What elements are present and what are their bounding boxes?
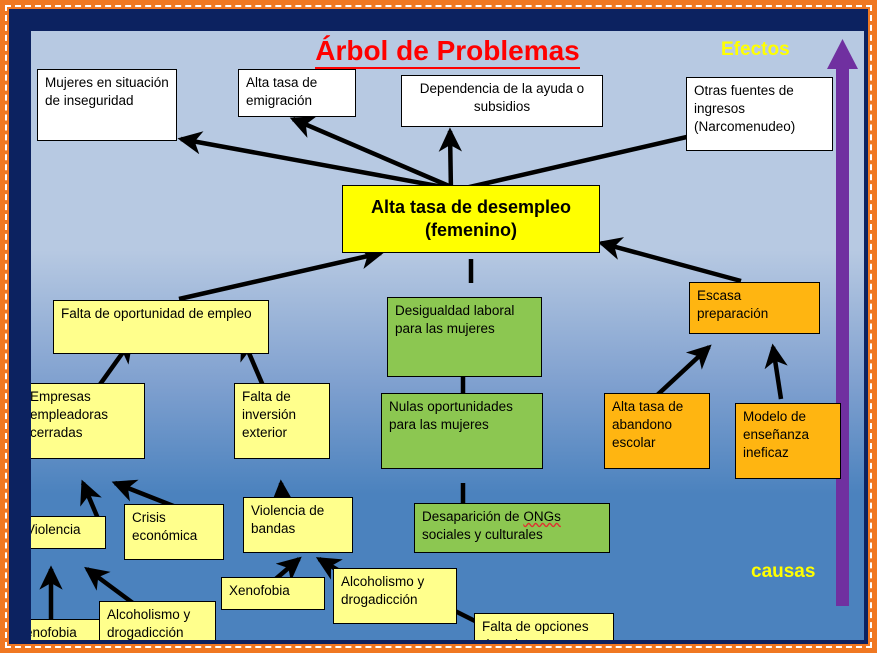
- node-text: Alcoholismo y drogadicción: [107, 607, 190, 640]
- cause-node-desigualdad-laboral[interactable]: Desigualdad laboral para las mujeres: [387, 297, 542, 377]
- node-text: Alta tasa de emigración: [246, 75, 317, 108]
- cause-node-escasa-preparacion[interactable]: Escasa preparación: [689, 282, 820, 334]
- cause-node-crisis-economica[interactable]: Crisis económica: [124, 504, 224, 560]
- inner-navy-frame: Árbol de Problemas Efectos causas Mujere…: [9, 9, 868, 644]
- node-text: Xenofobia: [31, 625, 77, 640]
- cause-node-violencia-bandas[interactable]: Violencia de bandas: [243, 497, 353, 553]
- ongs-text-prefix: Desaparición de: [422, 509, 523, 524]
- node-text: Escasa preparación: [697, 288, 768, 321]
- arrow-core-to-dependencia: [450, 131, 451, 193]
- cause-node-falta-inversion-exterior[interactable]: Falta de inversión exterior: [234, 383, 330, 459]
- cause-node-nulas-oportunidades[interactable]: Nulas oportunidades para las mujeres: [381, 393, 543, 469]
- node-text: Mujeres en situación de inseguridad: [45, 75, 169, 108]
- node-text: Falta de inversión exterior: [242, 389, 296, 440]
- node-text: Modelo de enseñanza ineficaz: [743, 409, 809, 460]
- node-text: Violencia de bandas: [251, 503, 324, 536]
- effect-node-otras-fuentes-ingresos[interactable]: Otras fuentes de ingresos (Narcomenudeo): [686, 77, 833, 151]
- cause-node-alcoholismo-2[interactable]: Alcoholismo y drogadicción: [333, 568, 457, 624]
- node-text: Falta de oportunidad de empleo: [61, 306, 252, 321]
- node-text: Falta de opciones de ocio: [482, 619, 589, 640]
- cause-node-alcoholismo-1[interactable]: Alcoholismo y drogadicción: [99, 601, 216, 640]
- node-text: Otras fuentes de ingresos (Narcomenudeo): [694, 83, 795, 134]
- core-problem-node[interactable]: Alta tasa de desempleo (femenino): [342, 185, 600, 253]
- cause-node-violencia[interactable]: Violencia: [31, 516, 106, 549]
- page-title-text: Árbol de Problemas: [315, 35, 580, 69]
- cause-node-xenofobia-2[interactable]: Xenofobia: [221, 577, 325, 610]
- arrow-modelo-to-escasa: [773, 347, 781, 399]
- node-text: Dependencia de la ayuda o subsidios: [420, 81, 584, 114]
- arrow-escasa-to-core: [601, 243, 741, 281]
- node-text: Nulas oportunidades para las mujeres: [389, 399, 513, 432]
- slide-frame: Árbol de Problemas Efectos causas Mujere…: [0, 0, 877, 653]
- core-problem-line2: (femenino): [371, 219, 571, 242]
- node-text: Desaparición de ONGs sociales y cultural…: [422, 509, 561, 542]
- ongs-text-suffix: sociales y culturales: [422, 527, 543, 542]
- arrow-abandono-to-escasa: [653, 347, 709, 399]
- node-text: Crisis económica: [132, 510, 197, 543]
- effect-node-dependencia-ayuda[interactable]: Dependencia de la ayuda o subsidios: [401, 75, 603, 127]
- cause-node-desaparicion-ongs[interactable]: Desaparición de ONGs sociales y cultural…: [414, 503, 610, 553]
- effect-node-alta-tasa-emigracion[interactable]: Alta tasa de emigración: [238, 69, 356, 117]
- arrow-core-to-narcomenudeo: [461, 130, 717, 189]
- cause-node-falta-oportunidad-empleo[interactable]: Falta de oportunidad de empleo: [53, 300, 269, 354]
- node-text: Desigualdad laboral para las mujeres: [395, 303, 514, 336]
- cause-node-xenofobia-1[interactable]: Xenofobia: [31, 619, 104, 640]
- node-text: Xenofobia: [229, 583, 290, 598]
- effects-axis-label: Efectos: [721, 39, 790, 61]
- arrow-falta-oportunidad-to-core: [179, 253, 381, 299]
- core-problem-line1: Alta tasa de desempleo: [371, 196, 571, 219]
- arrow-core-to-mujeres: [181, 139, 443, 187]
- causes-axis-label: causas: [751, 561, 815, 583]
- effect-node-mujeres-inseguridad[interactable]: Mujeres en situación de inseguridad: [37, 69, 177, 141]
- node-text: Violencia: [31, 522, 81, 537]
- cause-node-modelo-ensenanza[interactable]: Modelo de enseñanza ineficaz: [735, 403, 841, 479]
- cause-node-falta-opciones-ocio[interactable]: Falta de opciones de ocio: [474, 613, 614, 640]
- cause-node-empresas-cerradas[interactable]: Empresas empleadoras cerradas: [31, 383, 145, 459]
- node-text: Alta tasa de abandono escolar: [612, 399, 683, 450]
- ongs-misspelled-word: ONGs: [523, 509, 561, 524]
- diagram-canvas: Árbol de Problemas Efectos causas Mujere…: [31, 31, 864, 640]
- node-text: Alcoholismo y drogadicción: [341, 574, 424, 607]
- node-text: Empresas empleadoras cerradas: [31, 389, 108, 440]
- cause-node-abandono-escolar[interactable]: Alta tasa de abandono escolar: [604, 393, 710, 469]
